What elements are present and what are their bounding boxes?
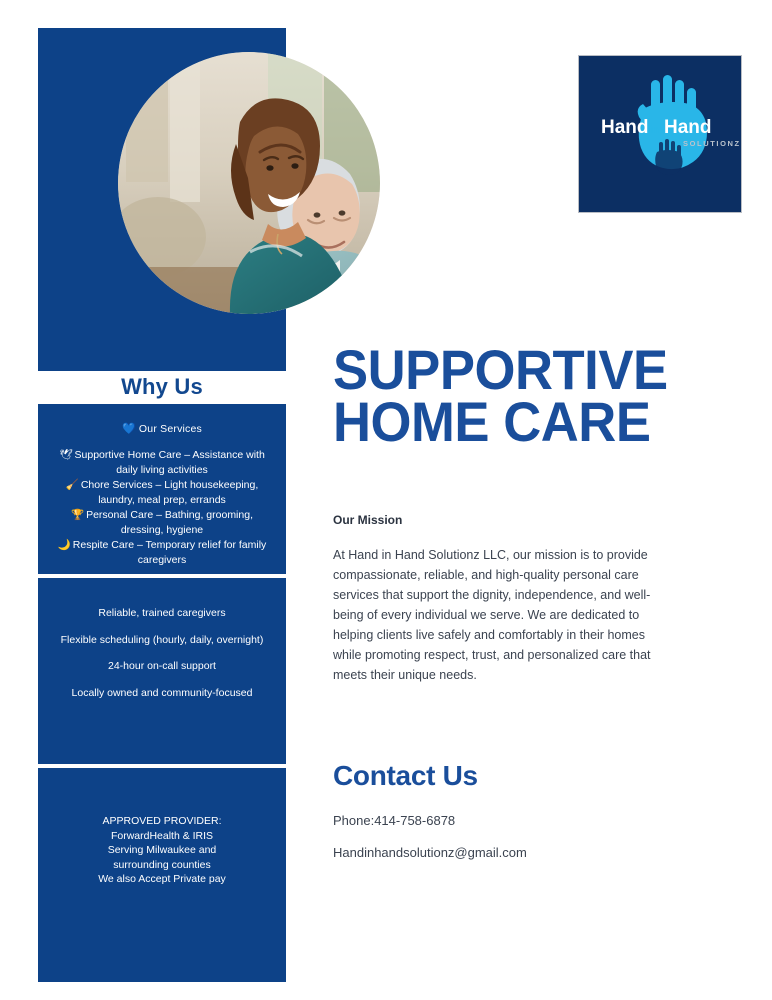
list-item: Reliable, trained caregivers: [56, 606, 268, 621]
page-title-line-2: HOME CARE: [333, 396, 709, 448]
caregiver-photo-illustration: [118, 52, 380, 314]
list-item: Flexible scheduling (hourly, daily, over…: [56, 633, 268, 648]
heart-icon: 💙: [122, 423, 136, 435]
contact-heading: Contact Us: [333, 760, 478, 792]
hand-in-hand-logo: Hand in Hand SOLUTIONZ: [579, 56, 743, 214]
mission-heading: Our Mission: [333, 513, 402, 527]
logo-word-hand-2: Hand: [664, 117, 712, 138]
logo-word-hand-1: Hand: [601, 117, 649, 138]
approved-line-4: surrounding counties: [52, 858, 272, 873]
service-text: Respite Care – Temporary relief for fami…: [73, 539, 267, 566]
caregiver-photo: [118, 52, 380, 314]
mission-body: At Hand in Hand Solutionz LLC, our missi…: [333, 545, 673, 685]
services-list: 🕊Supportive Home Care – Assistance with …: [38, 435, 286, 567]
logo-word-in: in: [649, 124, 659, 136]
approved-line-1: APPROVED PROVIDER:: [52, 814, 272, 829]
list-item: Locally owned and community-focused: [56, 686, 268, 701]
services-heading-label: Our Services: [139, 423, 202, 435]
service-text: Chore Services – Light housekeeping, lau…: [81, 479, 258, 506]
logo-box: Hand in Hand SOLUTIONZ: [578, 55, 742, 213]
dove-icon: 🕊: [59, 449, 72, 461]
broom-icon: 🧹: [66, 479, 79, 491]
trophy-icon: 🏆: [71, 509, 84, 521]
service-text: Supportive Home Care – Assistance with d…: [75, 449, 265, 476]
logo-svg: Hand in Hand SOLUTIONZ: [579, 56, 743, 214]
list-item: 🧹Chore Services – Light housekeeping, la…: [50, 478, 274, 507]
list-item: 🕊Supportive Home Care – Assistance with …: [50, 448, 274, 477]
page-title-line-1: SUPPORTIVE: [333, 344, 709, 396]
approved-line-3: Serving Milwaukee and: [52, 843, 272, 858]
service-text: Personal Care – Bathing, grooming, dress…: [86, 509, 253, 536]
why-us-heading: Why Us: [38, 374, 286, 400]
list-item: 🌙Respite Care – Temporary relief for fam…: [50, 538, 274, 567]
moon-icon: 🌙: [58, 539, 71, 551]
services-heading: 💙Our Services: [38, 404, 286, 435]
approved-line-2: ForwardHealth & IRIS: [52, 829, 272, 844]
services-panel: 💙Our Services 🕊Supportive Home Care – As…: [38, 404, 286, 574]
benefits-list: Reliable, trained caregivers Flexible sc…: [38, 578, 286, 700]
benefits-panel: Reliable, trained caregivers Flexible sc…: [38, 578, 286, 764]
page-title: SUPPORTIVE HOME CARE: [333, 344, 709, 448]
approved-provider-panel: APPROVED PROVIDER: ForwardHealth & IRIS …: [38, 768, 286, 982]
approved-provider-text: APPROVED PROVIDER: ForwardHealth & IRIS …: [38, 768, 286, 887]
contact-email[interactable]: Handinhandsolutionz@gmail.com: [333, 845, 527, 860]
list-item: 🏆Personal Care – Bathing, grooming, dres…: [50, 508, 274, 537]
approved-line-5: We also Accept Private pay: [52, 872, 272, 887]
logo-tagline: SOLUTIONZ: [683, 139, 741, 148]
list-item: 24-hour on-call support: [56, 659, 268, 674]
contact-phone[interactable]: Phone:414-758-6878: [333, 813, 455, 828]
